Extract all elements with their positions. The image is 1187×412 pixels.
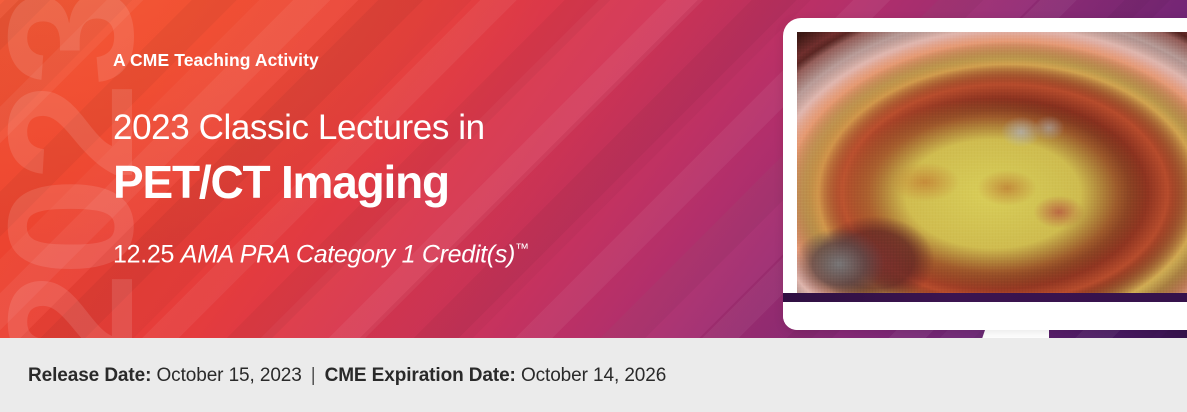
monitor-chin <box>783 302 1187 330</box>
expiration-date-label: CME Expiration Date: <box>325 365 516 386</box>
monitor-chin-divider <box>783 293 1187 302</box>
pet-ct-brain-scan-image <box>797 32 1187 293</box>
expiration-date-value: October 14, 2026 <box>516 365 666 386</box>
activity-eyebrow: A CME Teaching Activity <box>113 50 319 71</box>
desktop-monitor <box>783 18 1187 330</box>
cme-credits-line: 12.25 AMA PRA Category 1 Credit(s)™ <box>113 240 529 269</box>
hero-text-block: A CME Teaching Activity 2023 Classic Lec… <box>113 0 753 338</box>
dates-line: Release Date: October 15, 2023|CME Expir… <box>28 365 666 387</box>
credits-amount: 12.25 <box>113 240 181 268</box>
trademark-symbol: ™ <box>515 240 529 256</box>
cme-course-banner: 2023 A CME Teaching Activity 2023 Classi… <box>0 0 1187 412</box>
dates-info-bar: Release Date: October 15, 2023|CME Expir… <box>0 338 1187 412</box>
dates-separator: | <box>302 365 325 386</box>
release-date-value: October 15, 2023 <box>151 365 301 386</box>
monitor-screen <box>797 32 1187 293</box>
course-title-line-1: 2023 Classic Lectures in <box>113 108 485 148</box>
release-date-label: Release Date: <box>28 365 151 386</box>
course-title-line-2: PET/CT Imaging <box>113 155 449 209</box>
credits-designation: AMA PRA Category 1 Credit(s) <box>181 240 515 268</box>
